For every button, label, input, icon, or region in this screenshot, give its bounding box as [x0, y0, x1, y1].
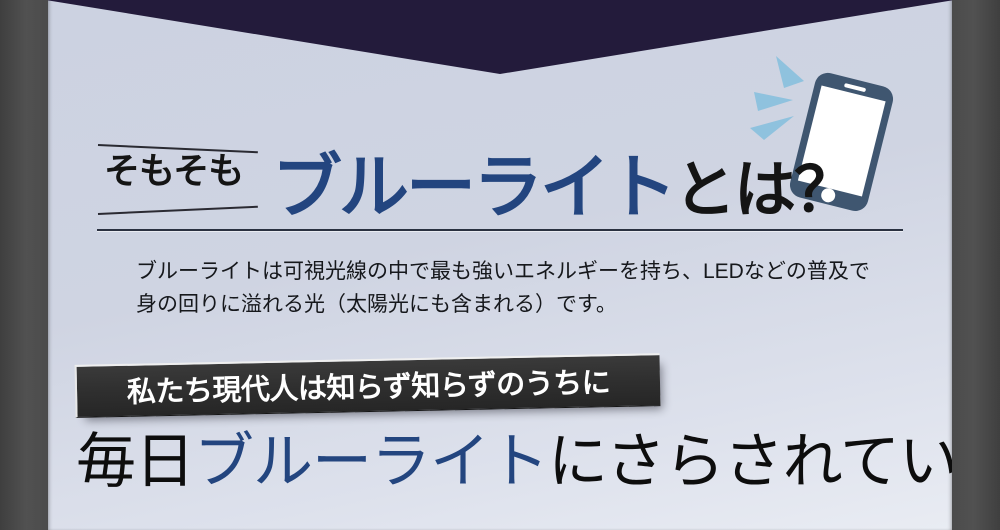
heading-title-dark: とは？ — [674, 156, 854, 225]
ray-middle — [754, 92, 793, 111]
emphasis-banner: 私たち現代人は知らず知らずのうちに — [75, 353, 661, 418]
page-heading: そもそも ブルーライトとは？ — [98, 128, 952, 224]
closing-part-3: にさらされています — [548, 429, 952, 495]
right-page-rail — [952, 0, 1000, 530]
heading-kicker: そもそも — [104, 153, 243, 189]
infographic-canvas: そもそも ブルーライトとは？ ブルーライトは可視光線の中で最も強いエネルギーを持… — [0, 0, 1000, 530]
heading-title: ブルーライトとは？ — [272, 152, 854, 224]
left-page-rail — [0, 0, 48, 530]
body-paragraph: ブルーライトは可視光線の中で最も強いエネルギーを持ち、LEDなどの普及で 身の回… — [136, 256, 926, 321]
closing-headline: 毎日ブルーライトにさらされています — [76, 432, 952, 492]
emphasis-banner-text: 私たち現代人は知らず知らずのうちに — [126, 359, 610, 411]
ray-upper — [776, 56, 804, 88]
heading-divider — [97, 229, 903, 231]
kicker-rule-bottom — [98, 206, 258, 215]
closing-part-1: 毎日 — [76, 429, 194, 495]
closing-part-2: ブルーライト — [194, 429, 548, 495]
heading-kicker-group: そもそも — [98, 132, 266, 224]
body-line-2: 身の回りに溢れる光（太陽光にも含まれる）です。 — [136, 289, 926, 322]
content-panel: そもそも ブルーライトとは？ ブルーライトは可視光線の中で最も強いエネルギーを持… — [48, 0, 952, 530]
body-line-1: ブルーライトは可視光線の中で最も強いエネルギーを持ち、LEDなどの普及で — [136, 256, 926, 289]
heading-title-blue: ブルーライト — [272, 148, 674, 226]
